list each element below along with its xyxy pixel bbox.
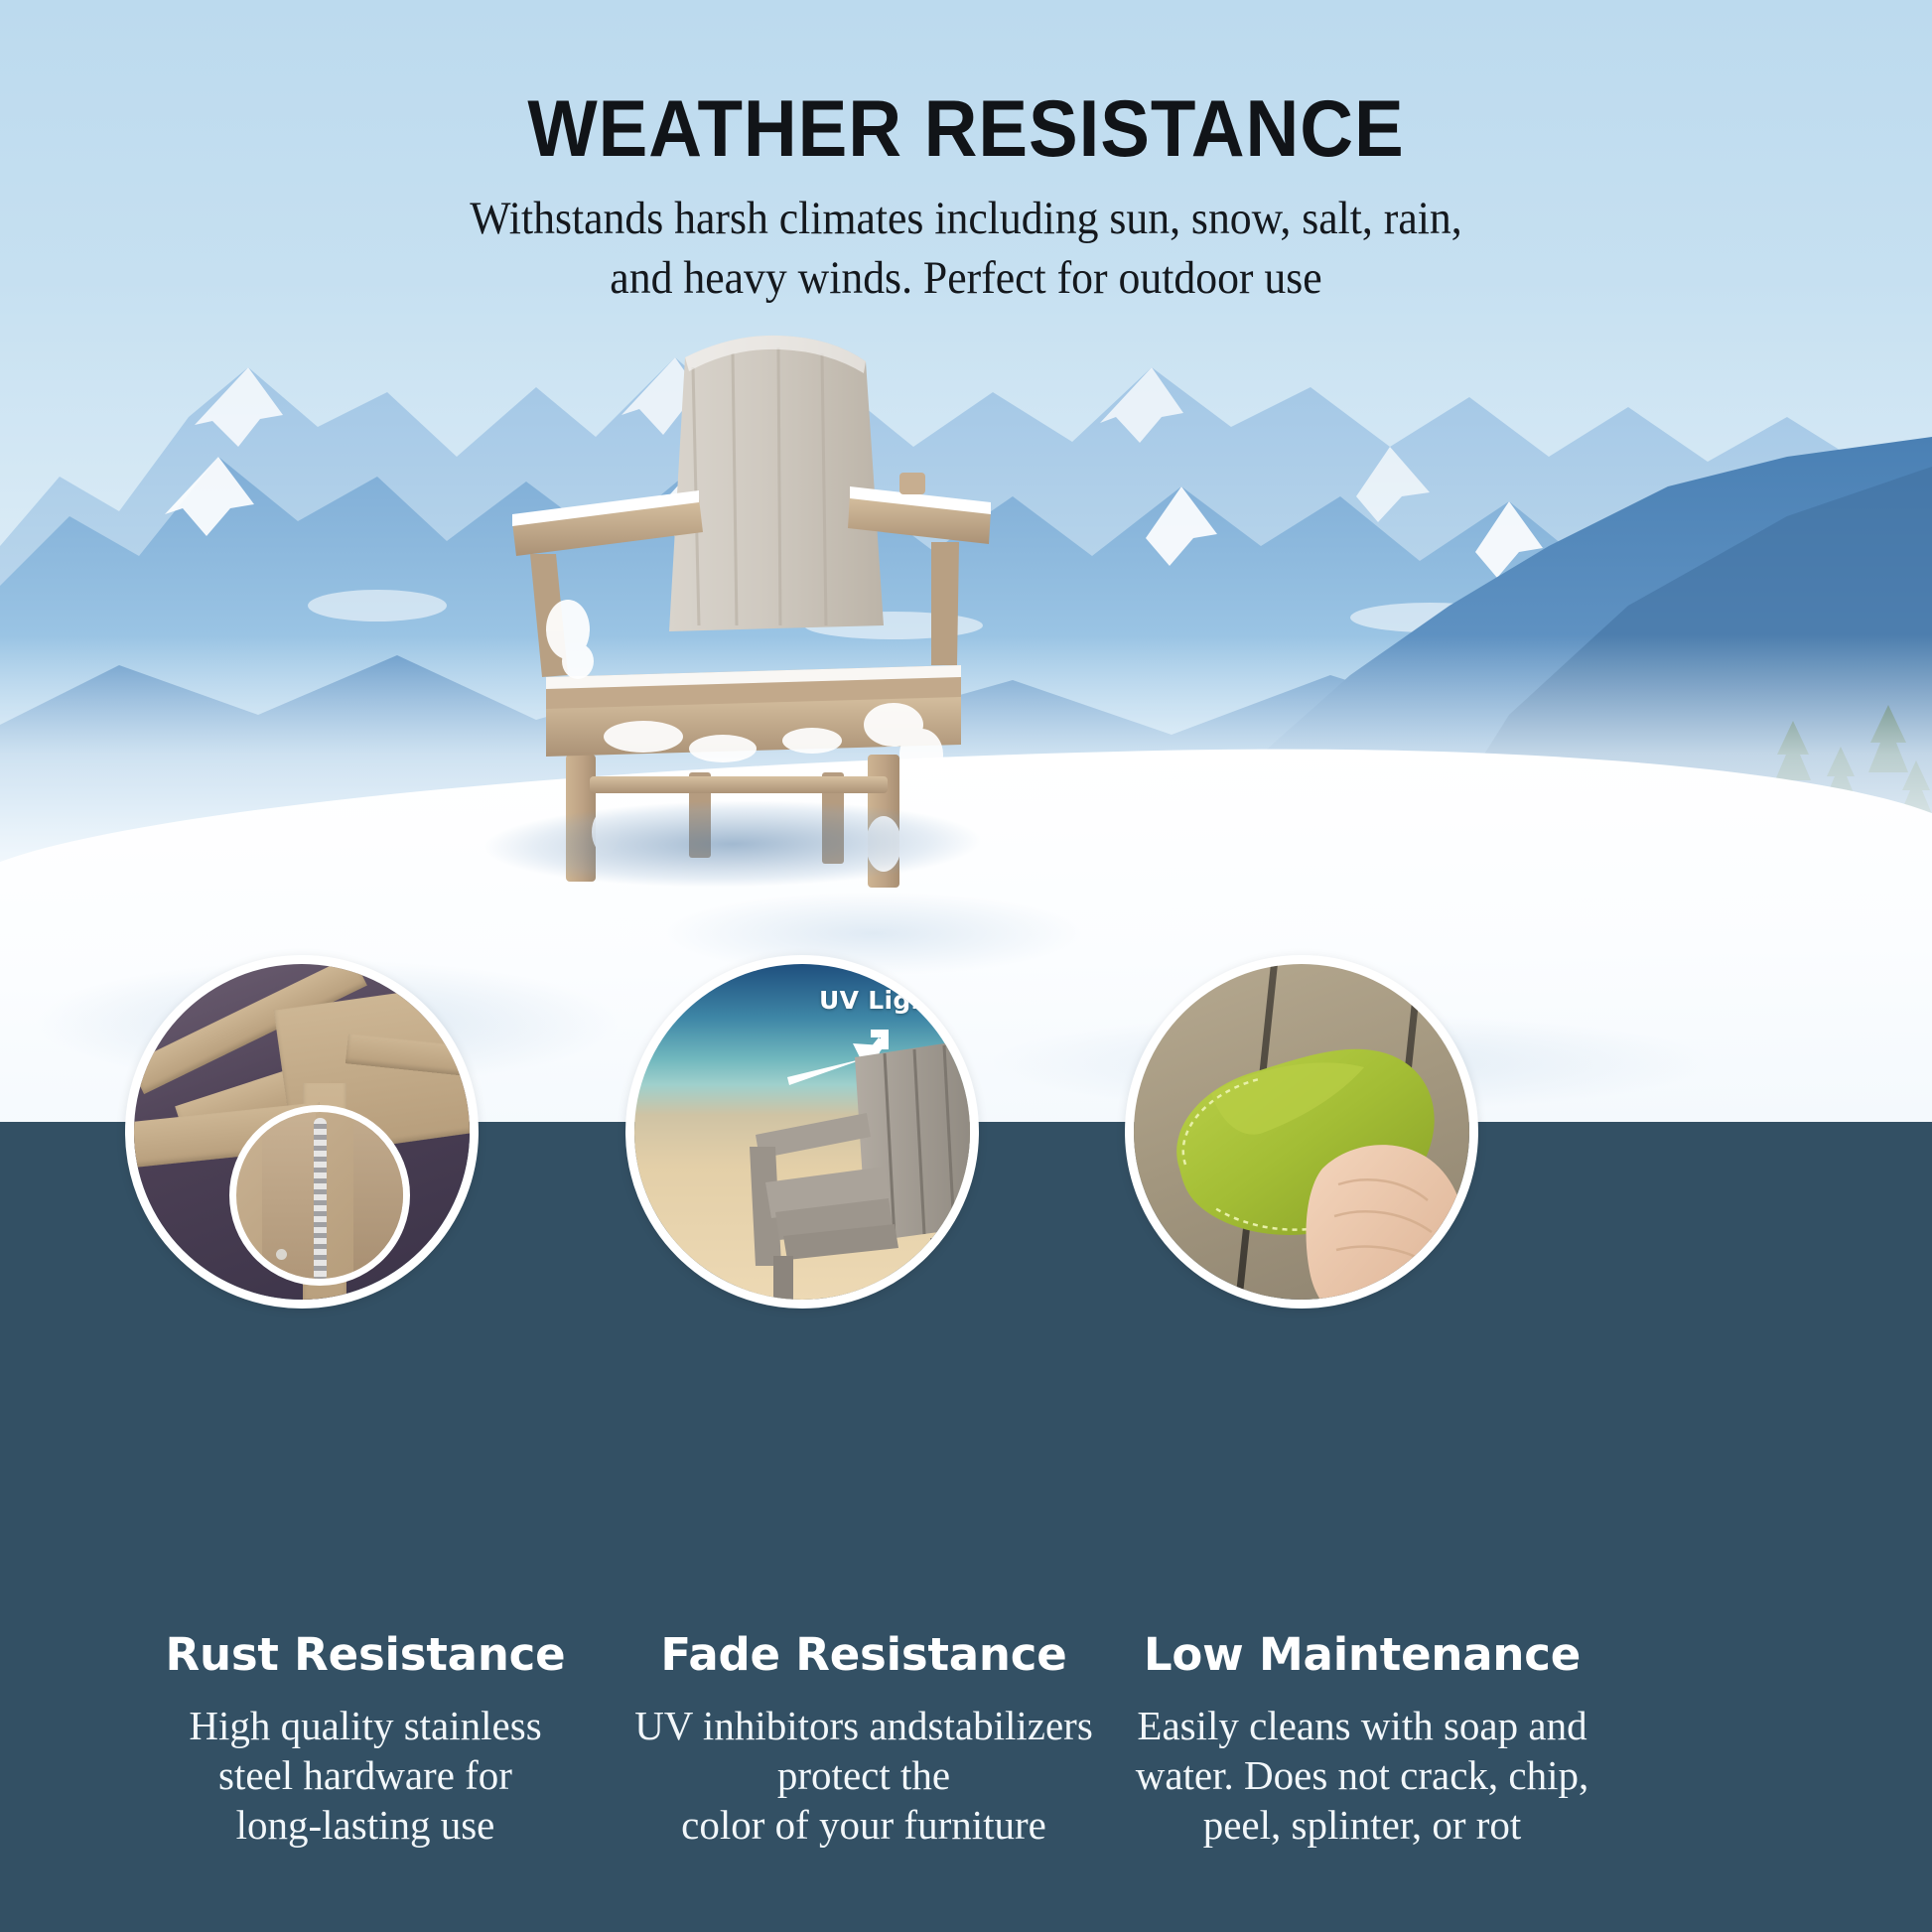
feature-description: Easily cleans with soap and water. Does …: [1054, 1701, 1670, 1850]
chair-shadow: [408, 784, 1096, 903]
feature-desc-line-1: Easily cleans with soap and: [1054, 1701, 1670, 1750]
hardware-zoom-inset: [229, 1105, 410, 1286]
feature-desc-line-3: peel, splinter, or rot: [1054, 1800, 1670, 1850]
rain-brick-background: [134, 964, 470, 1300]
feature-image-low-maintenance: [1125, 955, 1478, 1309]
beach-background: UV Light: [634, 964, 970, 1300]
hand-icon: [1283, 1113, 1478, 1309]
beach-adirondack-chair-icon: [736, 1018, 979, 1306]
stainless-chain-icon: [314, 1118, 327, 1282]
poster-canvas: UV Light: [0, 0, 1932, 1932]
feature-card-low-maintenance: Low Maintenance Easily cleans with soap …: [1054, 1628, 1670, 1850]
feature-image-rust-resistance: [125, 955, 479, 1309]
subtitle-line-1: Withstands harsh climates including sun,…: [68, 189, 1864, 248]
furniture-surface-background: [1134, 964, 1469, 1300]
feature-image-fade-resistance: UV Light: [625, 955, 979, 1309]
subtitle-line-2: and heavy winds. Perfect for outdoor use: [68, 248, 1864, 308]
feature-desc-line-2: water. Does not crack, chip,: [1054, 1750, 1670, 1800]
page-title: WEATHER RESISTANCE: [77, 83, 1855, 176]
page-subtitle: Withstands harsh climates including sun,…: [68, 189, 1864, 308]
hero-chair: [494, 328, 1050, 903]
feature-title: Low Maintenance: [1054, 1628, 1670, 1681]
uv-light-label: UV Light: [819, 986, 941, 1015]
